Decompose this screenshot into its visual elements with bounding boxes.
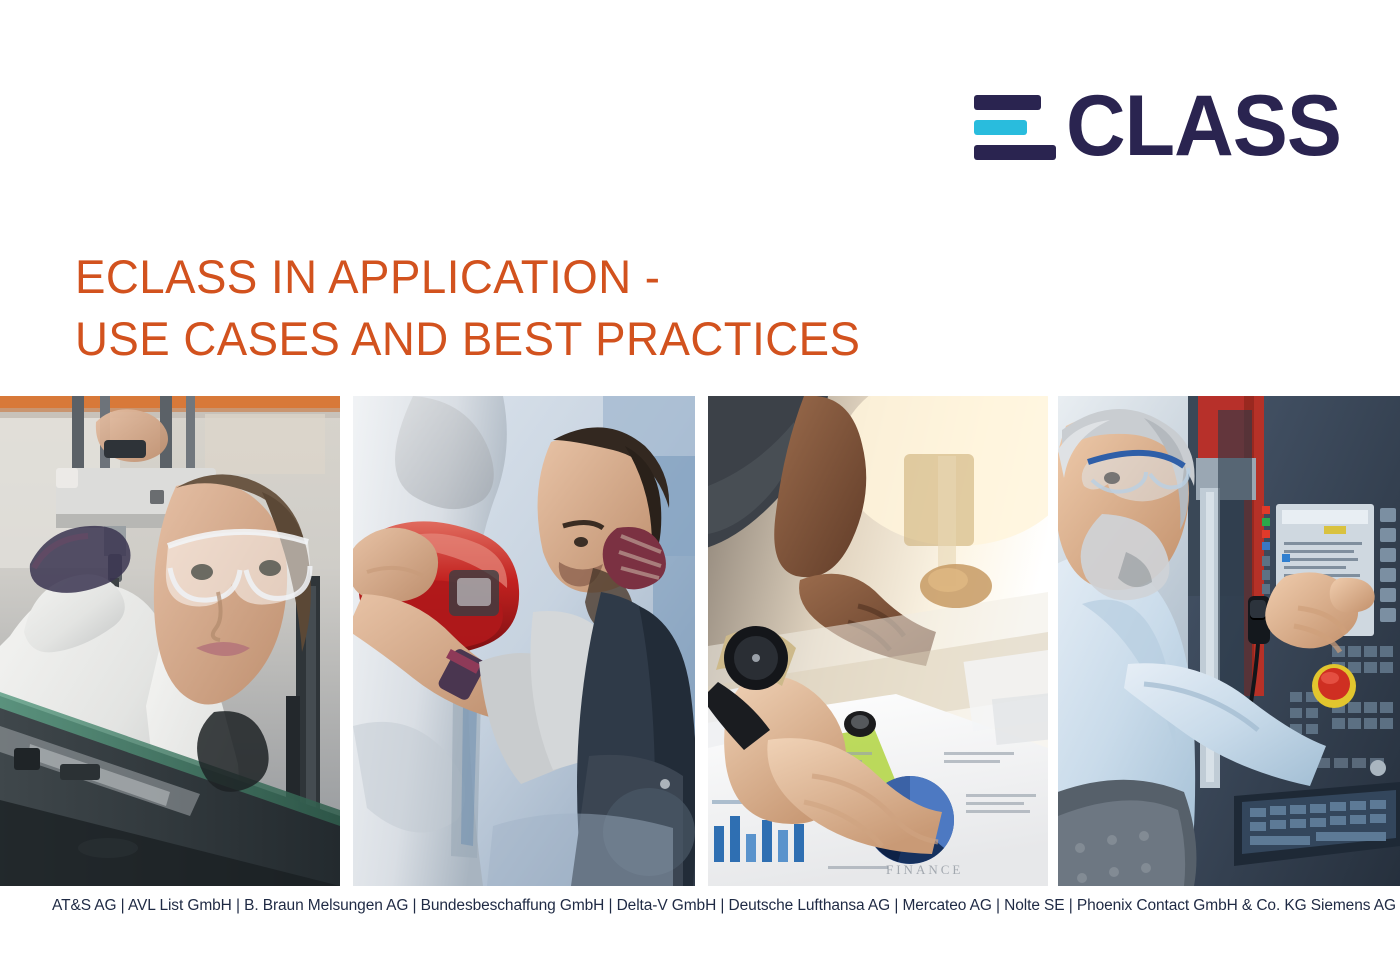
logo-bar-bottom-icon — [974, 145, 1056, 160]
eclass-logo-wordmark: CLASS — [1066, 84, 1341, 168]
page-title-line-1: ECLASS IN APPLICATION - — [75, 246, 1045, 308]
page-title-line-2: USE CASES AND BEST PRACTICES — [75, 308, 1045, 370]
photo-cnc-operator — [1058, 396, 1400, 886]
logo-bar-middle-icon — [974, 120, 1027, 135]
photo-automotive-repair — [353, 396, 695, 886]
eclass-logo-mark-icon — [974, 90, 1058, 162]
member-companies-footer: AT&S AG | AVL List GmbH | B. Braun Melsu… — [52, 896, 1372, 916]
eclass-logo: CLASS — [974, 84, 1330, 168]
svg-text:FINANCE: FINANCE — [886, 862, 963, 877]
logo-bar-top-icon — [974, 95, 1041, 110]
photo-business-meeting: 34% 21% FINANCE — [708, 396, 1048, 886]
page-title: ECLASS IN APPLICATION - USE CASES AND BE… — [75, 246, 1075, 370]
image-gallery-strip: 34% 21% FINANCE — [0, 396, 1400, 886]
photo-quality-inspection — [0, 396, 340, 886]
